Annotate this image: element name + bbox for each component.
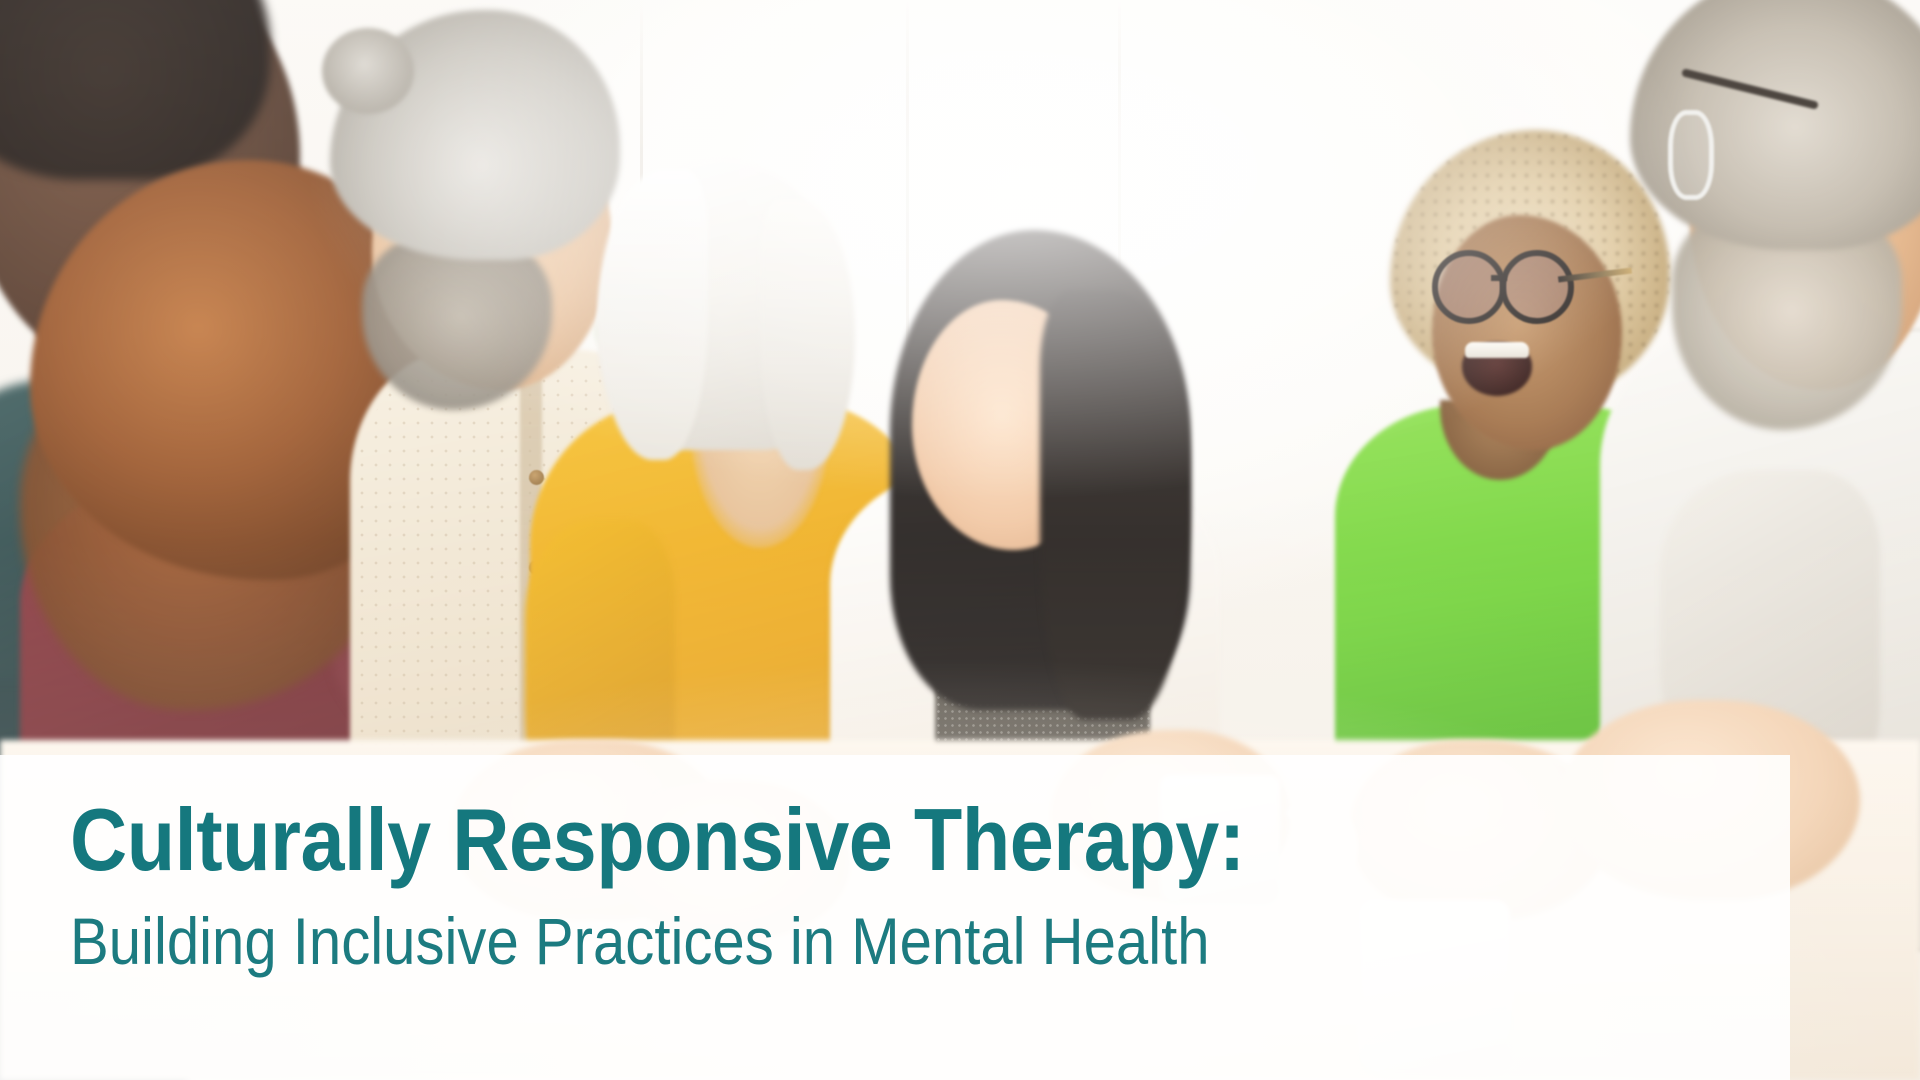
page-title: Culturally Responsive Therapy: [70,795,1474,885]
person-6-teeth [1465,342,1529,358]
person-5-hair-front [1040,290,1190,720]
eyeglasses-bridge [1491,275,1507,281]
page-subtitle: Building Inclusive Practices in Mental H… [70,907,1443,976]
banner: Culturally Responsive Therapy: Building … [0,0,1920,1080]
eyeglasses-lens [1668,110,1714,200]
person-3-shirt-button [529,470,544,485]
banner-text-block: Culturally Responsive Therapy: Building … [70,795,1630,976]
eyeglasses-icon [1500,250,1574,324]
person-3-hair-bun [322,28,414,114]
eyeglasses-icon [1432,250,1506,324]
